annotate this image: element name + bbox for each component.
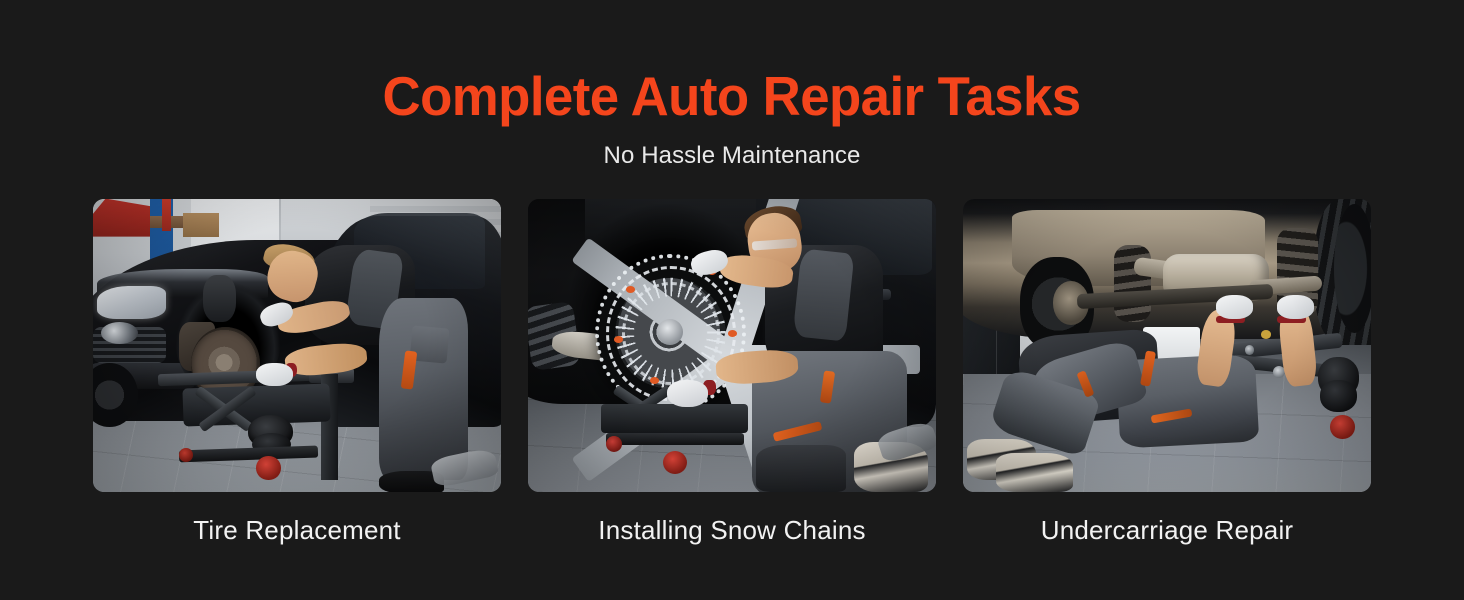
air-jack-body xyxy=(601,404,748,433)
page-subtitle: No Hassle Maintenance xyxy=(604,142,861,171)
chain-hook xyxy=(626,286,635,292)
red-caster-wheel xyxy=(1330,415,1354,438)
red-caster-wheel-rear xyxy=(179,448,193,463)
red-caster-wheel xyxy=(663,451,687,474)
cardboard-box xyxy=(183,213,220,236)
photo-tire-replacement xyxy=(93,199,501,492)
red-post xyxy=(162,199,171,231)
page-title: Complete Auto Repair Tasks xyxy=(383,68,1081,126)
feature-card-snow-chains[interactable]: Installing Snow Chains xyxy=(528,199,936,546)
jack-pivot-bolt-secondary xyxy=(1245,345,1255,355)
jack-base-frame xyxy=(606,433,745,445)
feature-caption: Installing Snow Chains xyxy=(598,515,865,546)
chain-hook xyxy=(650,377,659,383)
suspension xyxy=(203,275,236,322)
tire-sidewall-right xyxy=(1334,204,1371,333)
red-caster-wheel-rear xyxy=(606,436,622,452)
technician-glove-left xyxy=(1216,295,1253,318)
mechanic-work-pants xyxy=(379,298,469,480)
technician-sneaker-right xyxy=(996,453,1074,491)
feature-card-tire-replacement[interactable]: Tire Replacement xyxy=(93,199,501,546)
coil-spring-left xyxy=(1114,245,1151,321)
mechanic-glove-lower xyxy=(667,380,708,406)
feature-caption: Tire Replacement xyxy=(193,515,400,546)
feature-caption: Undercarriage Repair xyxy=(1041,515,1294,546)
photo-installing-snow-chains xyxy=(528,199,936,492)
fog-lamp xyxy=(101,322,138,344)
feature-card-row: Tire Replacement xyxy=(93,199,1371,546)
mechanic-knee xyxy=(756,445,846,492)
technician-glove-right xyxy=(1277,295,1314,318)
chain-hook xyxy=(614,336,623,342)
air-bellows-lower xyxy=(1320,380,1357,412)
chain-hook xyxy=(728,330,737,336)
headlight xyxy=(97,286,166,318)
red-caster-wheel xyxy=(256,456,280,479)
photo-undercarriage-repair xyxy=(963,199,1371,492)
snow-chain-inner-ring xyxy=(622,282,720,385)
feature-card-undercarriage-repair[interactable]: Undercarriage Repair xyxy=(963,199,1371,546)
promo-banner: Complete Auto Repair Tasks No Hassle Mai… xyxy=(0,0,1464,600)
mechanic-glove-lower xyxy=(256,363,293,386)
mechanic-overall-strap xyxy=(793,249,855,342)
